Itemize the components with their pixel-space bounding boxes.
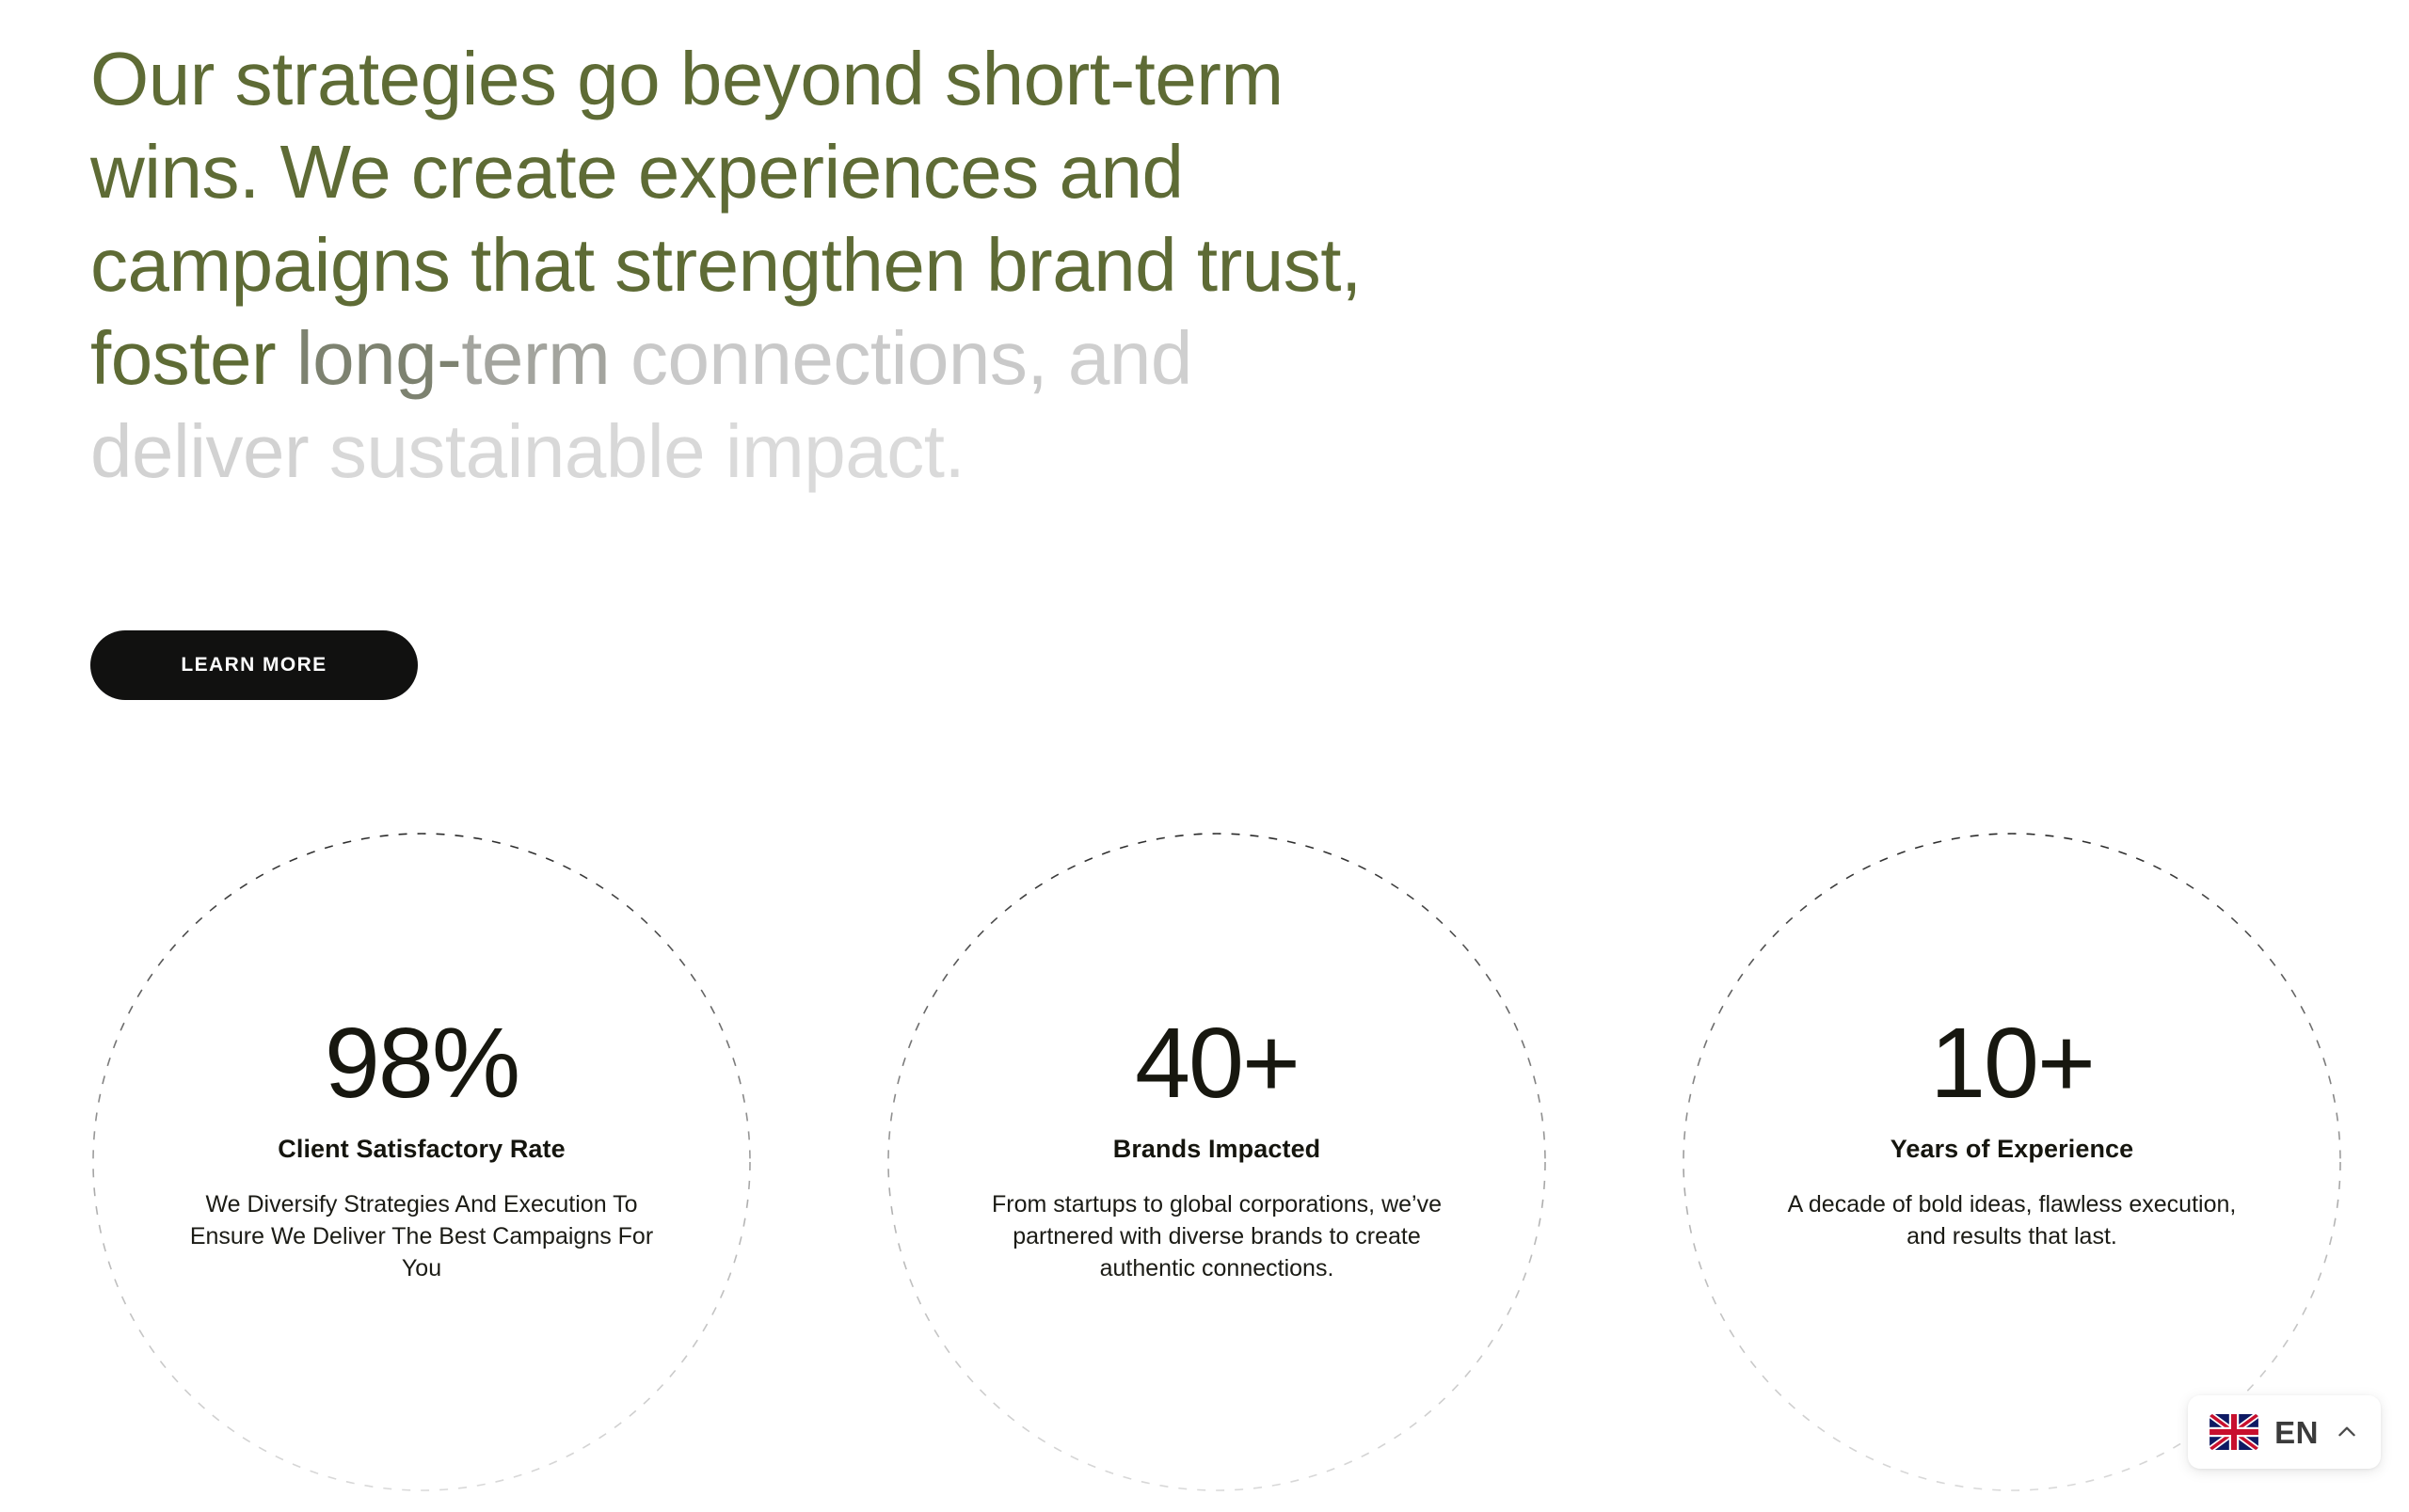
headline-word: impact. [726,409,965,493]
stat-label: Years of Experience [1683,1134,2341,1164]
stat-card-3: 10+ Years of Experience A decade of bold… [1683,833,2341,1491]
headline-word: foster [90,316,276,400]
headline-word: Our [90,37,215,120]
learn-more-button[interactable]: LEARN MORE [90,630,418,700]
headline-word: strengthen [614,223,965,307]
stat-description: We Diversify Strategies And Execution To… [177,1188,666,1284]
headline-word: term [461,316,610,400]
stat-card-2: 40+ Brands Impacted From startups to glo… [887,833,1546,1491]
headline-word: and [1068,316,1192,400]
stats-row: 98% Client Satisfactory Rate We Diversif… [0,833,2409,1501]
headline-word: sustainable [329,409,705,493]
stat-value: 98% [92,1013,751,1113]
headline-block: Our strategies go beyond short-term wins… [90,32,1408,498]
headline-word: We [280,130,391,214]
stat-description: From startups to global corporations, we… [972,1188,1461,1284]
page-title: Our strategies go beyond short-term wins… [90,32,1408,498]
headline-word: long- [296,316,461,400]
flag-icon-uk [2210,1414,2258,1450]
headline-word: deliver [90,409,309,493]
language-code: EN [2274,1417,2319,1448]
headline-word: beyond [680,37,924,120]
stat-value: 40+ [887,1013,1546,1113]
stat-description: A decade of bold ideas, flawless executi… [1767,1188,2257,1252]
stat-label: Brands Impacted [887,1134,1546,1164]
headline-word: create [411,130,617,214]
headline-word: brand [986,223,1176,307]
stat-card-1: 98% Client Satisfactory Rate We Diversif… [92,833,751,1491]
headline-word: and [1059,130,1183,214]
headline-word: connections, [630,316,1047,400]
stat-value: 10+ [1683,1013,2341,1113]
chevron-up-icon[interactable] [2335,1420,2359,1444]
headline-word: campaigns [90,223,450,307]
headline-word: short-term [945,37,1284,120]
headline-word: go [577,37,660,120]
headline-word: wins. [90,130,260,214]
language-switcher[interactable]: EN [2188,1395,2381,1469]
stat-label: Client Satisfactory Rate [92,1134,751,1164]
headline-word: strategies [235,37,557,120]
headline-word: experiences [638,130,1039,214]
headline-word: that [471,223,594,307]
headline-word: trust, [1197,223,1362,307]
